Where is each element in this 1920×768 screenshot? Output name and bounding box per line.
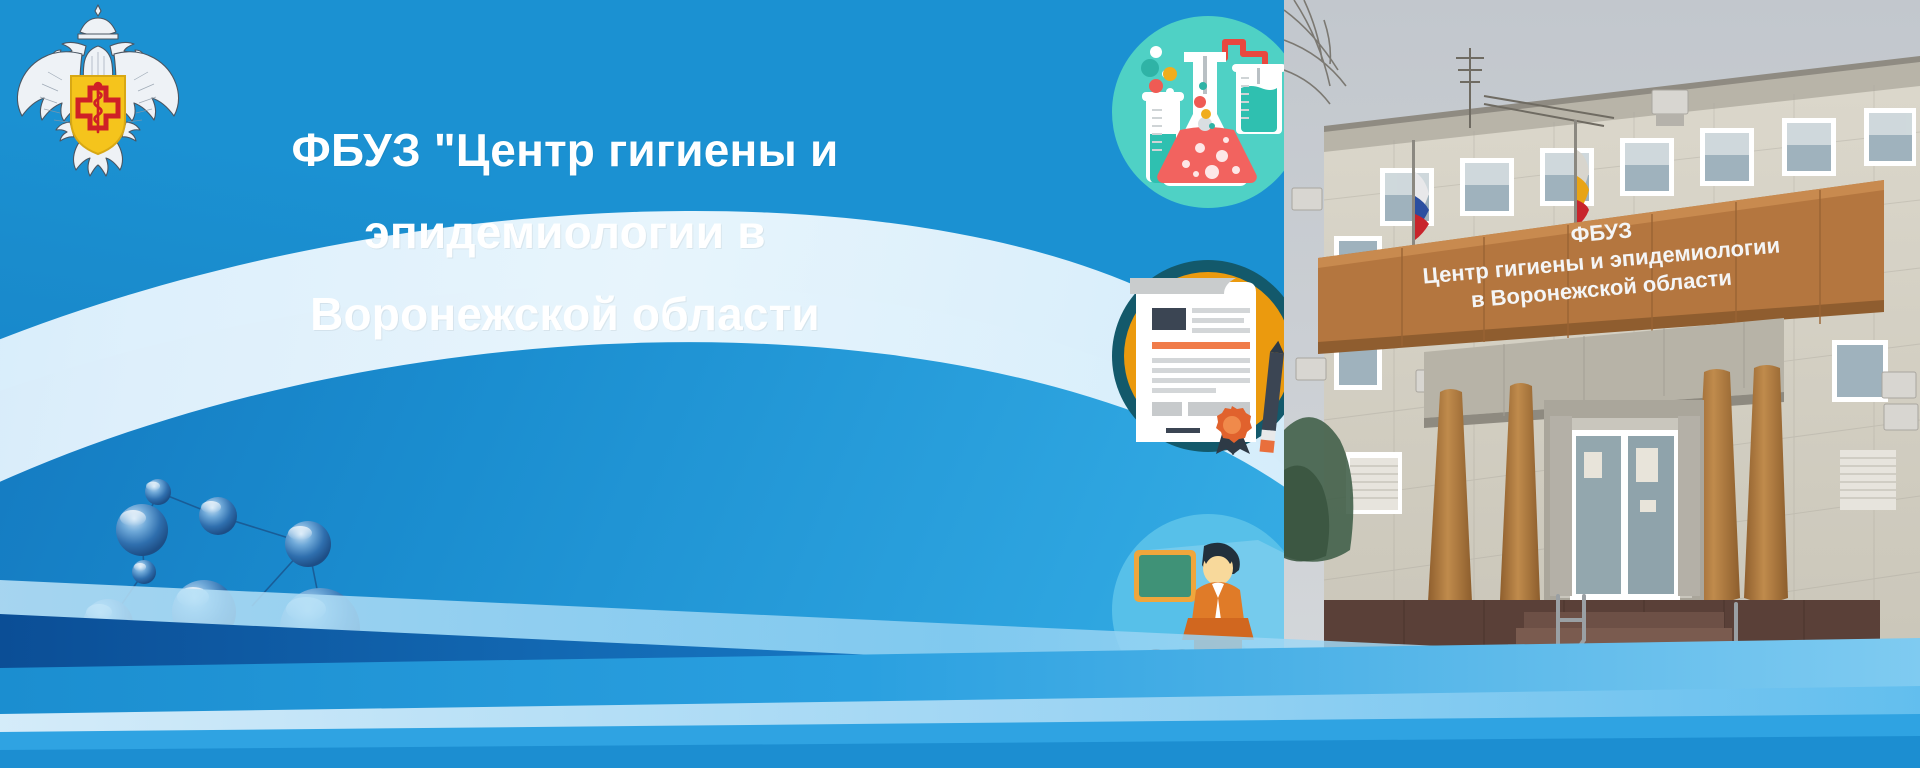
banner-title: ФБУЗ "Центр гигиены и эпидемиологии в Во… [215, 110, 915, 356]
molecule-graphic [20, 420, 460, 750]
banner-title-line-1: ФБУЗ "Центр гигиены и [215, 110, 915, 192]
sign-line-1: ФБУЗ [1570, 217, 1633, 247]
lecture-training-icon [1108, 510, 1308, 710]
laboratory-flask-icon [1108, 12, 1308, 212]
site-banner: ФБУЗ "Центр гигиены и эпидемиологии в Во… [0, 0, 1920, 768]
building-photo: ФБУЗ Центр гигиены и эпидемиологии в Вор… [1284, 0, 1920, 768]
rospotrebnadzor-emblem-icon [8, 2, 188, 202]
banner-title-line-2: эпидемиологии в [215, 192, 915, 274]
certificate-document-icon [1108, 256, 1308, 456]
banner-title-line-3: Воронежской области [215, 274, 915, 356]
